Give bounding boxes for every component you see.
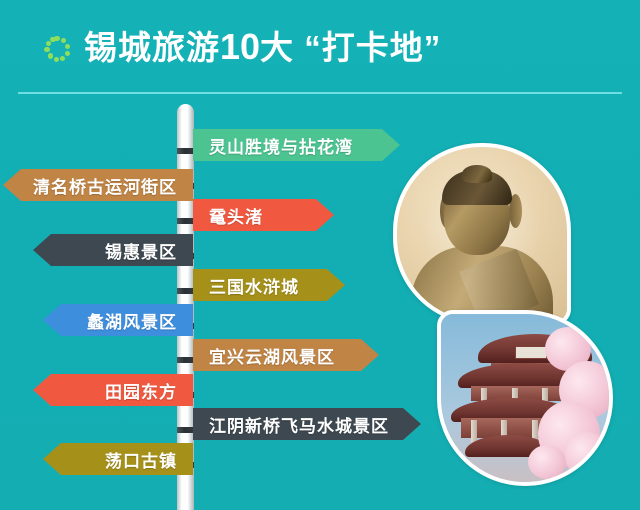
pole-band (177, 427, 194, 433)
signpost-sign-jiangyinfeima[interactable]: 江阴新桥飞马水城景区 (193, 408, 421, 440)
sign-label: 锡惠景区 (105, 238, 177, 263)
title-number: 10 (220, 26, 260, 67)
sign-label: 宜兴云湖风景区 (209, 343, 335, 368)
title-lead: 锡城旅游 (84, 29, 220, 66)
header: 锡城旅游10大 “打卡地” (0, 0, 640, 92)
title-mid: 大 (260, 29, 294, 66)
signpost-sign-yixingyunhu[interactable]: 宜兴云湖风景区 (193, 339, 379, 371)
signpost-sign-qingmingqiao[interactable]: 清名桥古运河街区 (3, 169, 193, 201)
signpost-sign-lingshan[interactable]: 灵山胜境与拈花湾 (193, 129, 400, 161)
sign-label: 灵山胜境与拈花湾 (209, 133, 353, 158)
poster-root: 锡城旅游10大 “打卡地” (0, 0, 640, 510)
sign-label: 鼋头渚 (209, 203, 263, 228)
sign-label: 三国水浒城 (209, 273, 299, 298)
signpost-sign-sanguoshuihu[interactable]: 三国水浒城 (193, 269, 345, 301)
signpost-sign-dangkou[interactable]: 荡口古镇 (43, 443, 193, 475)
turtle-head-isle-pagoda-photo (437, 310, 613, 486)
signpost-sign-tianyuandongfang[interactable]: 田园东方 (33, 374, 193, 406)
header-divider (18, 92, 622, 94)
sign-label: 田园东方 (105, 378, 177, 403)
page-title: 锡城旅游10大 “打卡地” (84, 24, 441, 71)
buddha-ushnisha (462, 165, 492, 183)
sign-label: 江阴新桥飞马水城景区 (209, 412, 389, 437)
title-quoted: “打卡地” (304, 29, 441, 66)
pole-band (177, 218, 194, 224)
signpost-sign-yuantouzhu[interactable]: 鼋头渚 (193, 199, 334, 231)
signpost-sign-lihu[interactable]: 蠡湖风景区 (43, 304, 193, 336)
sign-label: 清名桥古运河街区 (33, 173, 177, 198)
pole-band (177, 148, 194, 154)
pole-band (177, 288, 194, 294)
lingshan-grand-buddha-photo (393, 143, 571, 325)
signpost-sign-xihui[interactable]: 锡惠景区 (33, 234, 193, 266)
pagoda-plaque (515, 346, 547, 359)
dotted-circle-icon (44, 36, 70, 62)
pole-band (177, 357, 194, 363)
sign-label: 荡口古镇 (105, 447, 177, 472)
sign-label: 蠡湖风景区 (87, 308, 177, 333)
